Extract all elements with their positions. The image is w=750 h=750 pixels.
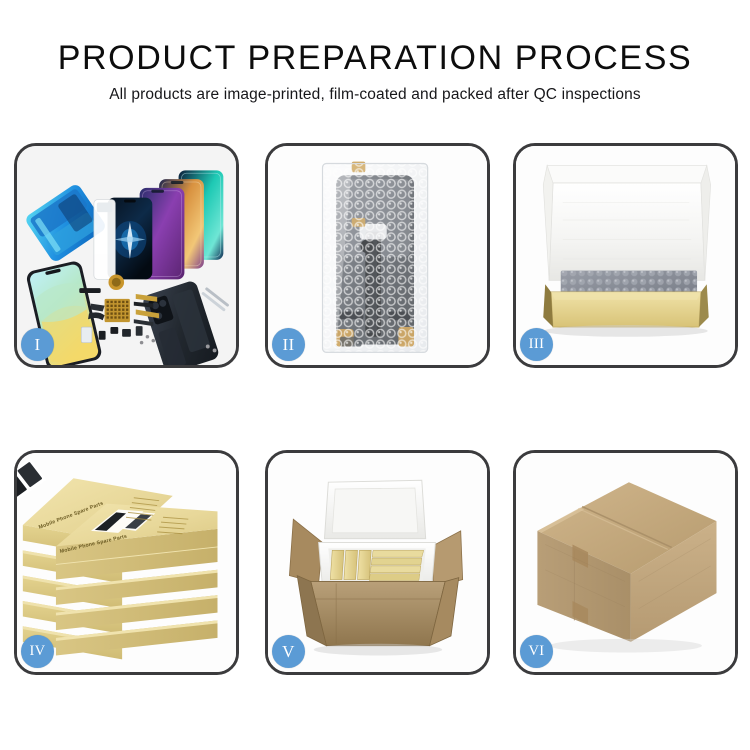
process-step-card-1: I <box>14 143 239 368</box>
step-3-illustration <box>516 146 735 365</box>
process-step-card-2: II <box>265 143 490 368</box>
step-4-artwork <box>17 453 236 672</box>
header: PRODUCT PREPARATION PROCESS All products… <box>0 38 750 105</box>
step-1-artwork <box>17 146 236 365</box>
step-1-illustration <box>17 146 236 365</box>
page-title: PRODUCT PREPARATION PROCESS <box>0 38 750 78</box>
step-5-artwork <box>268 453 487 672</box>
step-2-illustration <box>268 146 487 365</box>
step-4-illustration: Mobile Phone Spare Parts Mobile Phone Sp… <box>17 453 236 672</box>
process-step-card-4: Mobile Phone Spare Parts Mobile Phone Sp… <box>14 450 239 675</box>
step-badge-1: I <box>21 328 54 361</box>
step-badge-2: II <box>272 328 305 361</box>
step-5-illustration <box>268 453 487 672</box>
process-step-card-5: V <box>265 450 490 675</box>
step-badge-6: VI <box>520 635 553 668</box>
step-badge-5: V <box>272 635 305 668</box>
product-preparation-infographic: PRODUCT PREPARATION PROCESS All products… <box>0 0 750 750</box>
step-6-illustration <box>516 453 735 672</box>
process-step-card-3: III <box>513 143 738 368</box>
step-3-artwork <box>516 146 735 365</box>
step-badge-4: IV <box>21 635 54 668</box>
step-badge-3: III <box>520 328 553 361</box>
step-2-artwork <box>268 146 487 365</box>
page-subtitle: All products are image-printed, film-coa… <box>0 85 750 105</box>
step-6-artwork <box>516 453 735 672</box>
process-step-grid: I <box>14 143 737 676</box>
process-step-card-6: VI <box>513 450 738 675</box>
